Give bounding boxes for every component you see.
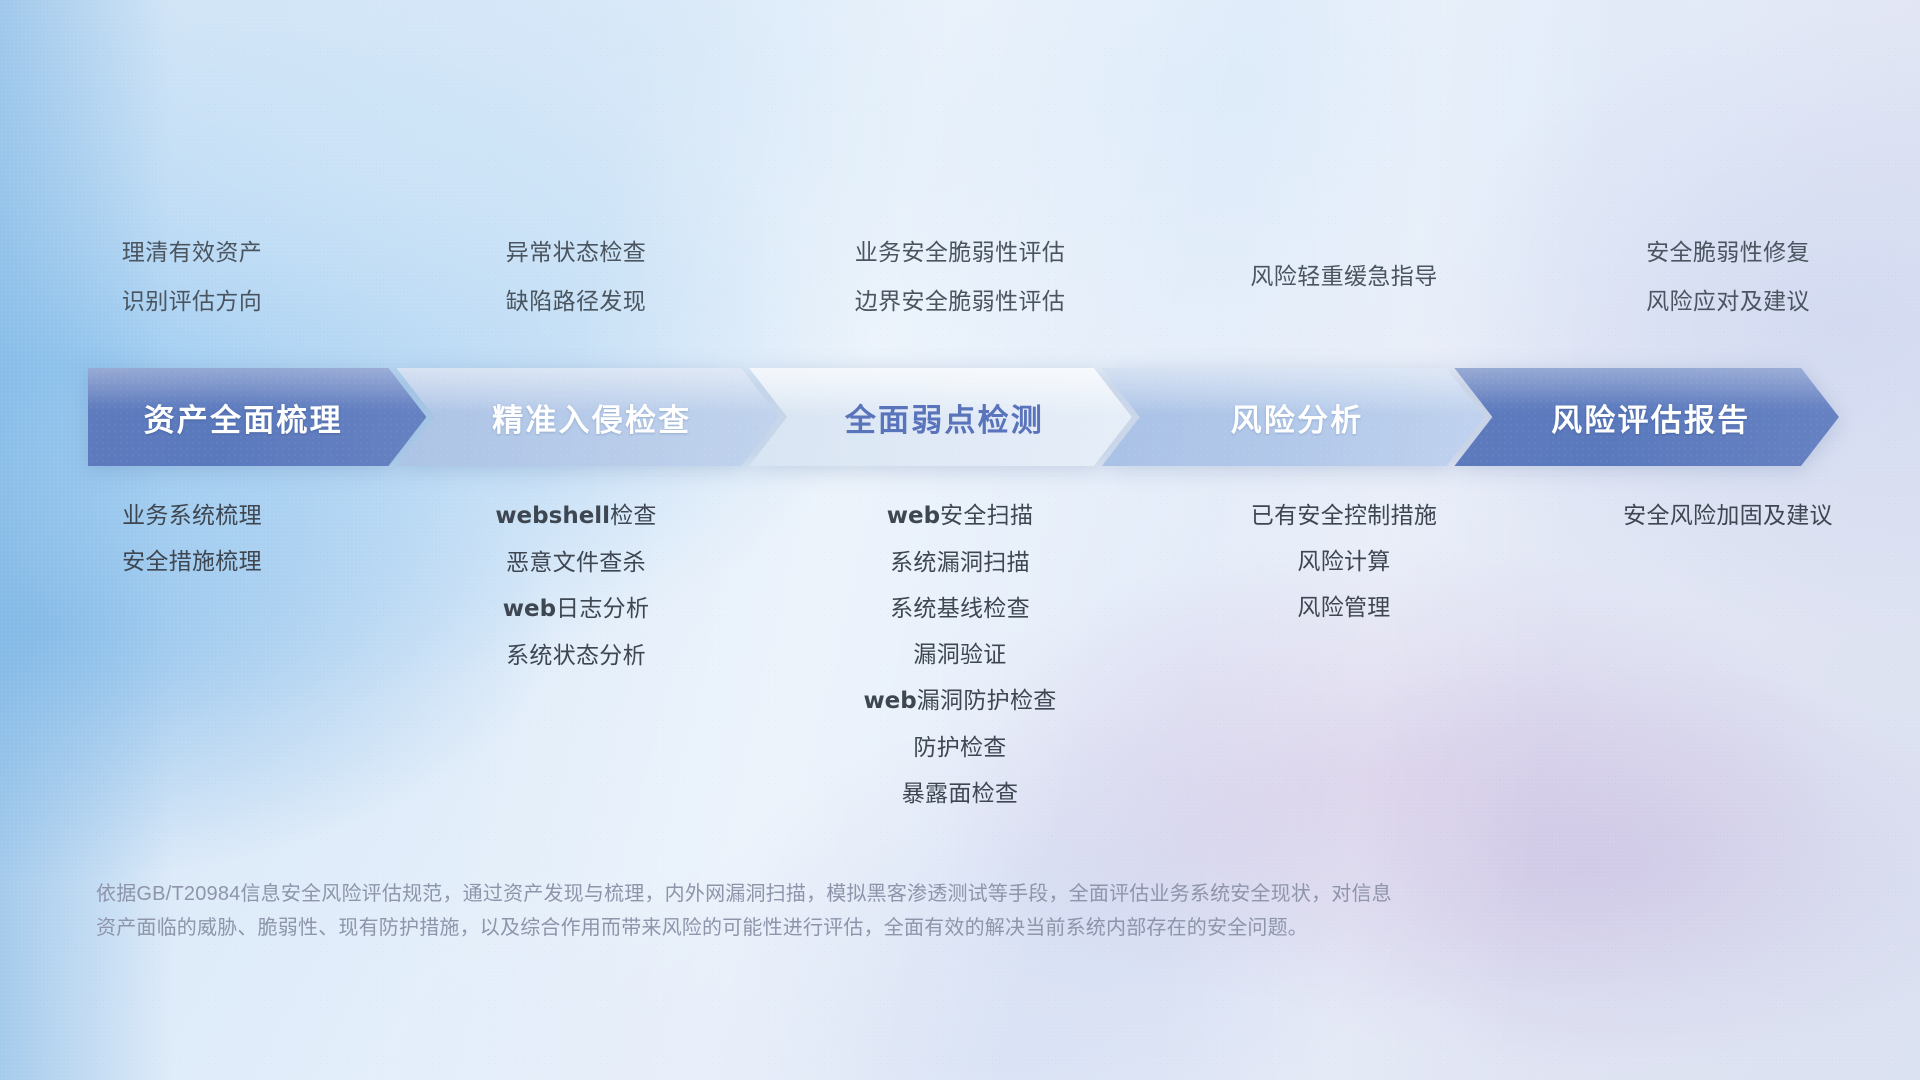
stage-chevron-weakness-detection[interactable]: 全面弱点检测 xyxy=(749,368,1132,466)
stage-item: 已有安全控制措施 xyxy=(1251,492,1437,538)
top-note: 理清有效资产 xyxy=(122,228,262,277)
stage-item: 防护检查 xyxy=(913,724,1006,770)
process-chevron-band: 资产全面梳理 精准入侵检查 全面弱点检测 风险分析 风险评估报告 xyxy=(88,368,1839,466)
stage-title: 风险评估报告 xyxy=(1551,395,1750,440)
stage-item: 风险计算 xyxy=(1297,538,1390,584)
top-annotations-row: 理清有效资产 识别评估方向 异常状态检查 缺陷路径发现 业务安全脆弱性评估 边界… xyxy=(0,228,1920,326)
stage-item: web安全扫描 xyxy=(887,492,1034,539)
stage-title: 资产全面梳理 xyxy=(144,395,343,440)
stage-item: 安全风险加固及建议 xyxy=(1623,492,1833,538)
stage-items-weakness-detection: web安全扫描 系统漏洞扫描 系统基线检查 漏洞验证 web漏洞防护检查 防护检… xyxy=(768,492,1152,816)
stage-items-asset-inventory: 业务系统梳理 安全措施梳理 xyxy=(0,492,384,584)
stage-title: 风险分析 xyxy=(1231,395,1364,440)
top-note: 风险应对及建议 xyxy=(1646,277,1810,326)
top-note: 业务安全脆弱性评估 xyxy=(855,228,1066,277)
footer-line-1: 依据GB/T20984信息安全风险评估规范，通过资产发现与梳理，内外网漏洞扫描，… xyxy=(96,877,1756,911)
stage-item: 安全措施梳理 xyxy=(122,538,262,584)
stage-items-risk-report: 安全风险加固及建议 xyxy=(1536,492,1920,538)
top-note: 安全脆弱性修复 xyxy=(1646,228,1810,277)
stage-item: 风险管理 xyxy=(1297,584,1390,630)
slide-canvas: 理清有效资产 识别评估方向 异常状态检查 缺陷路径发现 业务安全脆弱性评估 边界… xyxy=(0,0,1920,1080)
top-notes-weakness-detection: 业务安全脆弱性评估 边界安全脆弱性评估 xyxy=(768,228,1152,326)
top-notes-asset-inventory: 理清有效资产 识别评估方向 xyxy=(0,228,384,326)
stage-chevron-risk-report[interactable]: 风险评估报告 xyxy=(1454,368,1839,466)
top-notes-risk-report: 安全脆弱性修复 风险应对及建议 xyxy=(1536,228,1920,326)
stage-item: 系统状态分析 xyxy=(506,632,646,678)
top-note: 异常状态检查 xyxy=(506,228,646,277)
footer-description: 依据GB/T20984信息安全风险评估规范，通过资产发现与梳理，内外网漏洞扫描，… xyxy=(96,877,1756,945)
stage-title: 精准入侵检查 xyxy=(492,395,691,440)
stage-title: 全面弱点检测 xyxy=(845,395,1044,440)
stage-item: 恶意文件查杀 xyxy=(506,539,646,585)
stage-chevron-risk-analysis[interactable]: 风险分析 xyxy=(1102,368,1485,466)
top-note: 边界安全脆弱性评估 xyxy=(855,277,1066,326)
top-note: 缺陷路径发现 xyxy=(506,277,646,326)
stage-chevron-asset-inventory[interactable]: 资产全面梳理 xyxy=(88,368,426,466)
stage-item: 漏洞验证 xyxy=(913,631,1006,677)
stage-item: 暴露面检查 xyxy=(902,770,1019,816)
footer-line-2: 资产面临的威胁、脆弱性、现有防护措施，以及综合作用而带来风险的可能性进行评估，全… xyxy=(96,911,1756,945)
stage-item: 业务系统梳理 xyxy=(122,492,262,538)
top-note: 识别评估方向 xyxy=(122,277,262,326)
stage-items-risk-analysis: 已有安全控制措施 风险计算 风险管理 xyxy=(1152,492,1536,630)
stage-item: 系统漏洞扫描 xyxy=(890,539,1030,585)
top-notes-risk-analysis: 风险轻重缓急指导 xyxy=(1152,228,1536,326)
stage-chevron-intrusion-check[interactable]: 精准入侵检查 xyxy=(396,368,779,466)
stage-item: webshell检查 xyxy=(495,492,656,539)
stage-items-row: 业务系统梳理 安全措施梳理 webshell检查 恶意文件查杀 web日志分析 … xyxy=(0,492,1920,816)
stage-item: web日志分析 xyxy=(503,585,650,632)
stage-item: web漏洞防护检查 xyxy=(863,677,1056,724)
stage-items-intrusion-check: webshell检查 恶意文件查杀 web日志分析 系统状态分析 xyxy=(384,492,768,678)
top-notes-intrusion-check: 异常状态检查 缺陷路径发现 xyxy=(384,228,768,326)
top-note: 风险轻重缓急指导 xyxy=(1250,252,1437,301)
stage-item: 系统基线检查 xyxy=(890,585,1030,631)
